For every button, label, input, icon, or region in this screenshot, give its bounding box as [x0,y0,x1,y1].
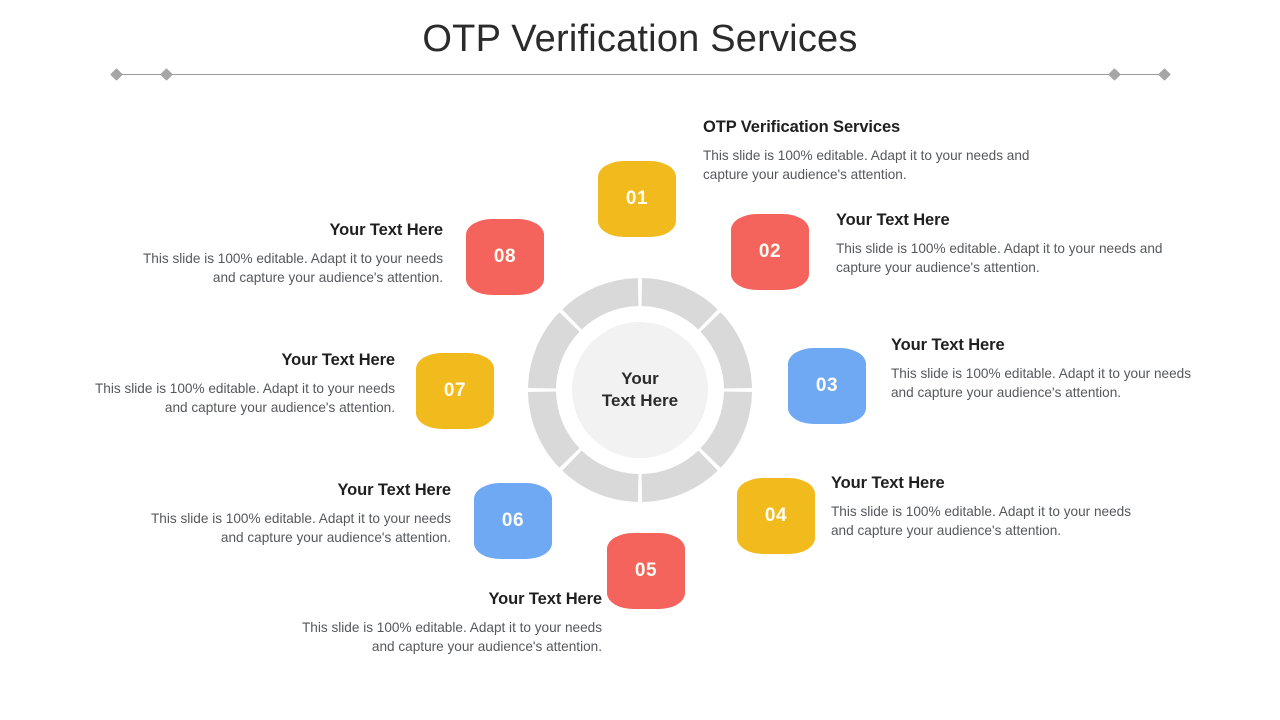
donut-segment-4 [642,450,718,502]
badge-number-07: 07 [444,380,466,402]
divider-line [116,74,1168,75]
number-badge-04[interactable]: 04 [737,478,815,554]
number-badge-05[interactable]: 05 [607,533,685,609]
text-block-03-heading: Your Text Here [891,336,1211,355]
hub-label-line1: Your [621,369,658,388]
page-title: OTP Verification Services [0,18,1280,61]
number-badge-02[interactable]: 02 [731,214,809,290]
number-badge-01[interactable]: 01 [598,161,676,237]
donut-segment-3 [700,392,752,468]
badge-number-04: 04 [765,505,787,527]
center-hub: Your Text Here [528,278,752,502]
badge-number-01: 01 [626,188,648,210]
text-block-07: Your Text Here This slide is 100% editab… [75,351,395,418]
text-block-03: Your Text Here This slide is 100% editab… [891,336,1211,403]
hub-label-line2: Text Here [602,391,678,410]
diamond-marker-icon [1158,68,1171,81]
donut-segment-8 [562,278,638,330]
text-block-06-heading: Your Text Here [131,481,451,500]
text-block-02: Your Text Here This slide is 100% editab… [836,211,1172,278]
donut-segment-6 [528,392,580,468]
text-block-04: Your Text Here This slide is 100% editab… [831,474,1153,541]
text-block-06-body: This slide is 100% editable. Adapt it to… [131,509,451,548]
text-block-04-heading: Your Text Here [831,474,1153,493]
donut-segment-7 [528,312,580,388]
diamond-marker-icon [160,68,173,81]
donut-segment-2 [700,312,752,388]
text-block-05-heading: Your Text Here [282,590,602,609]
hub-label: Your Text Here [572,322,708,458]
text-block-01-body: This slide is 100% editable. Adapt it to… [703,146,1033,185]
diamond-marker-icon [110,68,123,81]
badge-number-03: 03 [816,375,838,397]
number-badge-08[interactable]: 08 [466,219,544,295]
donut-segment-1 [642,278,718,330]
text-block-05: Your Text Here This slide is 100% editab… [282,590,602,657]
text-block-02-heading: Your Text Here [836,211,1172,230]
text-block-07-heading: Your Text Here [75,351,395,370]
text-block-02-body: This slide is 100% editable. Adapt it to… [836,239,1172,278]
number-badge-07[interactable]: 07 [416,353,494,429]
badge-number-06: 06 [502,510,524,532]
number-badge-03[interactable]: 03 [788,348,866,424]
text-block-08-heading: Your Text Here [123,221,443,240]
text-block-03-body: This slide is 100% editable. Adapt it to… [891,364,1211,403]
badge-number-02: 02 [759,241,781,263]
text-block-08-body: This slide is 100% editable. Adapt it to… [123,249,443,288]
badge-number-08: 08 [494,246,516,268]
title-divider [0,64,1280,86]
text-block-08: Your Text Here This slide is 100% editab… [123,221,443,288]
text-block-04-body: This slide is 100% editable. Adapt it to… [831,502,1153,541]
text-block-01: OTP Verification Services This slide is … [703,118,1033,185]
diamond-marker-icon [1108,68,1121,81]
text-block-06: Your Text Here This slide is 100% editab… [131,481,451,548]
text-block-05-body: This slide is 100% editable. Adapt it to… [282,618,602,657]
number-badge-06[interactable]: 06 [474,483,552,559]
text-block-01-heading: OTP Verification Services [703,118,1033,137]
text-block-07-body: This slide is 100% editable. Adapt it to… [75,379,395,418]
badge-number-05: 05 [635,560,657,582]
donut-segment-5 [562,450,638,502]
